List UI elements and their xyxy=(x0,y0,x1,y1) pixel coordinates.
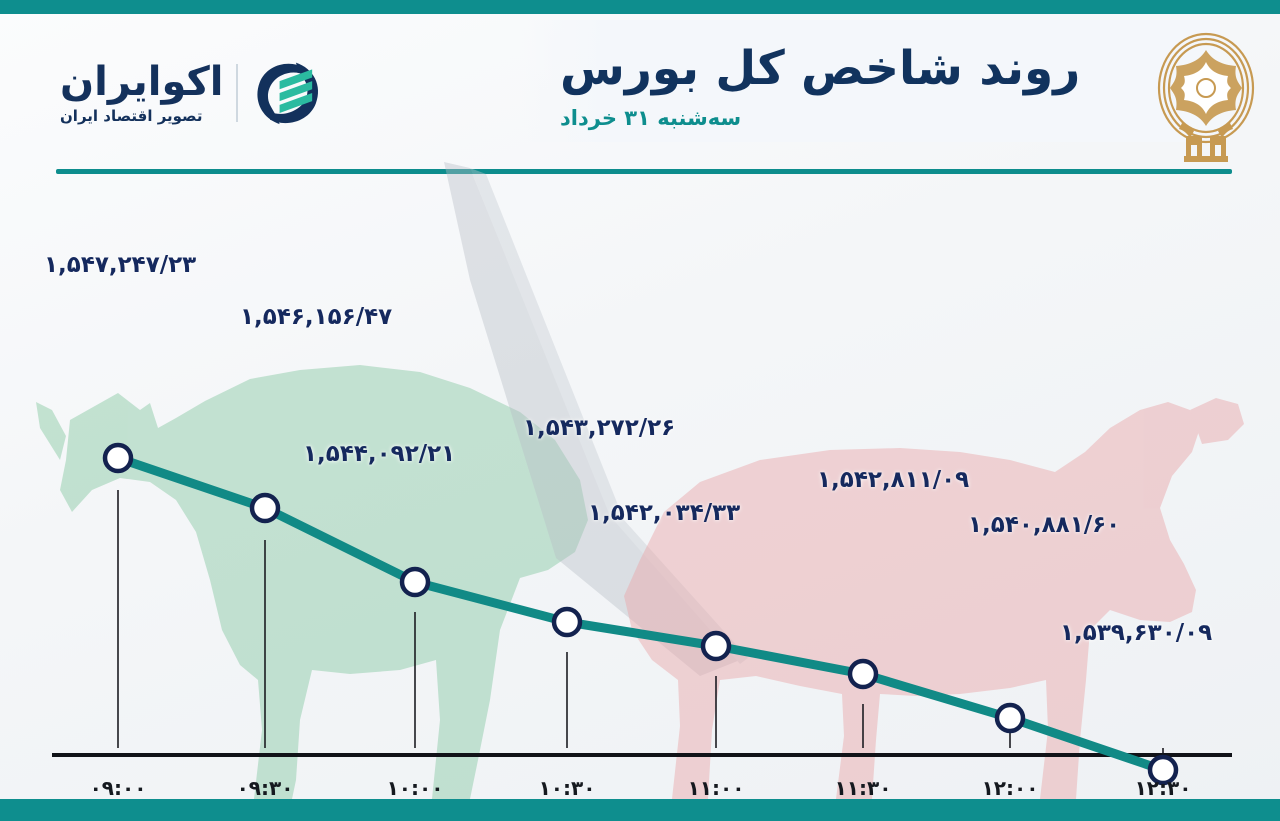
x-tick-label: ۱۰:۰۰ xyxy=(387,776,444,800)
x-tick-label: ۰۹:۳۰ xyxy=(237,776,294,800)
logo-tagline: تصویر اقتصاد ایران xyxy=(60,109,202,124)
index-trend-chart: ۱,۵۴۷,۲۴۷/۲۳ ۱,۵۴۶,۱۵۶/۴۷ ۱,۵۴۴,۰۹۲/۲۱ ۱… xyxy=(0,160,1280,799)
header: اکوایران تصویر اقتصاد ایران روند شاخص کل… xyxy=(0,14,1280,159)
data-label: ۱,۵۴۷,۲۴۷/۲۳ xyxy=(44,252,196,278)
tehran-stock-exchange-emblem-icon xyxy=(1146,26,1266,166)
data-point-marker xyxy=(997,705,1023,731)
data-label: ۱,۵۴۳,۲۷۲/۲۶ xyxy=(523,415,675,441)
logo-wordmark: اکوایران تصویر اقتصاد ایران xyxy=(60,62,224,124)
data-label: ۱,۵۳۹,۶۳۰/۰۹ xyxy=(1060,620,1212,646)
infographic-page: اکوایران تصویر اقتصاد ایران روند شاخص کل… xyxy=(0,0,1280,821)
data-label: ۱,۵۴۲,۸۱۱/۰۹ xyxy=(817,467,969,493)
x-tick-label: ۱۲:۳۰ xyxy=(1135,776,1192,800)
x-tick-label: ۱۰:۳۰ xyxy=(539,776,596,800)
data-point-marker xyxy=(402,569,428,595)
data-point-marker xyxy=(252,495,278,521)
logo-name: اکوایران xyxy=(60,62,224,102)
bottom-accent-bar xyxy=(0,799,1280,821)
data-label: ۱,۵۴۴,۰۹۲/۲۱ xyxy=(303,441,455,467)
page-subtitle: سه‌شنبه ۳۱ خرداد xyxy=(560,106,741,130)
headline-block: روند شاخص کل بورس سه‌شنبه ۳۱ خرداد xyxy=(560,32,1160,142)
data-point-marker xyxy=(105,445,131,471)
eco-iran-swoosh-icon xyxy=(250,56,324,130)
brand-logo: اکوایران تصویر اقتصاد ایران xyxy=(60,52,360,134)
page-title: روند شاخص کل بورس xyxy=(560,44,1080,95)
data-point-marker xyxy=(703,633,729,659)
x-tick-label: ۱۱:۰۰ xyxy=(688,776,745,800)
x-tick-label: ۱۲:۰۰ xyxy=(982,776,1039,800)
x-tick-label: ۰۹:۰۰ xyxy=(90,776,147,800)
data-label: ۱,۵۴۰,۸۸۱/۶۰ xyxy=(968,512,1120,538)
data-point-marker xyxy=(554,609,580,635)
top-accent-bar xyxy=(0,0,1280,14)
logo-divider xyxy=(236,64,238,122)
data-point-marker xyxy=(850,661,876,687)
x-tick-label: ۱۱:۳۰ xyxy=(835,776,892,800)
data-label: ۱,۵۴۶,۱۵۶/۴۷ xyxy=(240,304,392,330)
data-label: ۱,۵۴۲,۰۳۴/۳۳ xyxy=(588,500,740,526)
